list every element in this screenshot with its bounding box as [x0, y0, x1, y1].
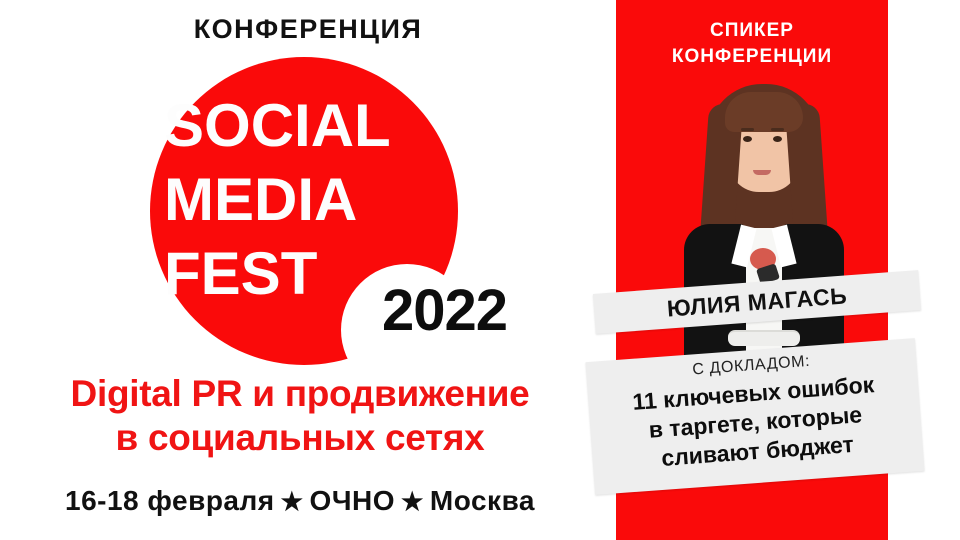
- speaker-kicker: СПИКЕР КОНФЕРЕНЦИИ: [616, 18, 888, 70]
- portrait-belt: [728, 330, 800, 346]
- logo-line-1: SOCIAL: [164, 89, 464, 163]
- poster-canvas: КОНФЕРЕНЦИЯ SOCIAL MEDIA FEST 2022 Digit…: [0, 0, 960, 540]
- event-year: 2022: [382, 282, 507, 340]
- talk-title: 11 ключевых ошибок в таргете, которые сл…: [588, 367, 923, 478]
- conference-kicker: КОНФЕРЕНЦИЯ: [0, 14, 616, 45]
- event-city: Москва: [430, 485, 535, 516]
- portrait-eye-left: [743, 136, 752, 142]
- event-details-bar: 16-18 февраля★ОЧНО★Москва: [0, 485, 600, 517]
- portrait-brow-right: [771, 128, 784, 131]
- tagline-line-1: Digital PR и продвижение: [0, 372, 600, 416]
- tagline-line-2: в социальных сетях: [0, 416, 600, 460]
- speaker-portrait: [668, 78, 858, 378]
- speaker-kicker-line-1: СПИКЕР: [616, 18, 888, 44]
- portrait-fringe: [725, 92, 803, 132]
- portrait-eye-right: [773, 136, 782, 142]
- portrait-mouth: [753, 170, 771, 175]
- left-pane: КОНФЕРЕНЦИЯ SOCIAL MEDIA FEST 2022 Digit…: [0, 0, 616, 540]
- star-icon-2: ★: [395, 488, 430, 516]
- speaker-pane: СПИКЕР КОНФЕРЕНЦИИ ЮЛИЯ МАГАСЬ: [616, 0, 888, 540]
- speaker-name: ЮЛИЯ МАГАСЬ: [666, 282, 848, 322]
- talk-banner: С ДОКЛАДОМ: 11 ключевых ошибок в таргете…: [586, 338, 925, 495]
- speaker-kicker-line-2: КОНФЕРЕНЦИИ: [616, 44, 888, 70]
- event-format: ОЧНО: [310, 485, 395, 516]
- logo-line-2: MEDIA: [164, 163, 464, 237]
- portrait-brow-left: [741, 128, 754, 131]
- star-icon-1: ★: [275, 488, 310, 516]
- event-dates: 16-18 февраля: [65, 485, 275, 516]
- event-tagline: Digital PR и продвижение в социальных се…: [0, 372, 600, 460]
